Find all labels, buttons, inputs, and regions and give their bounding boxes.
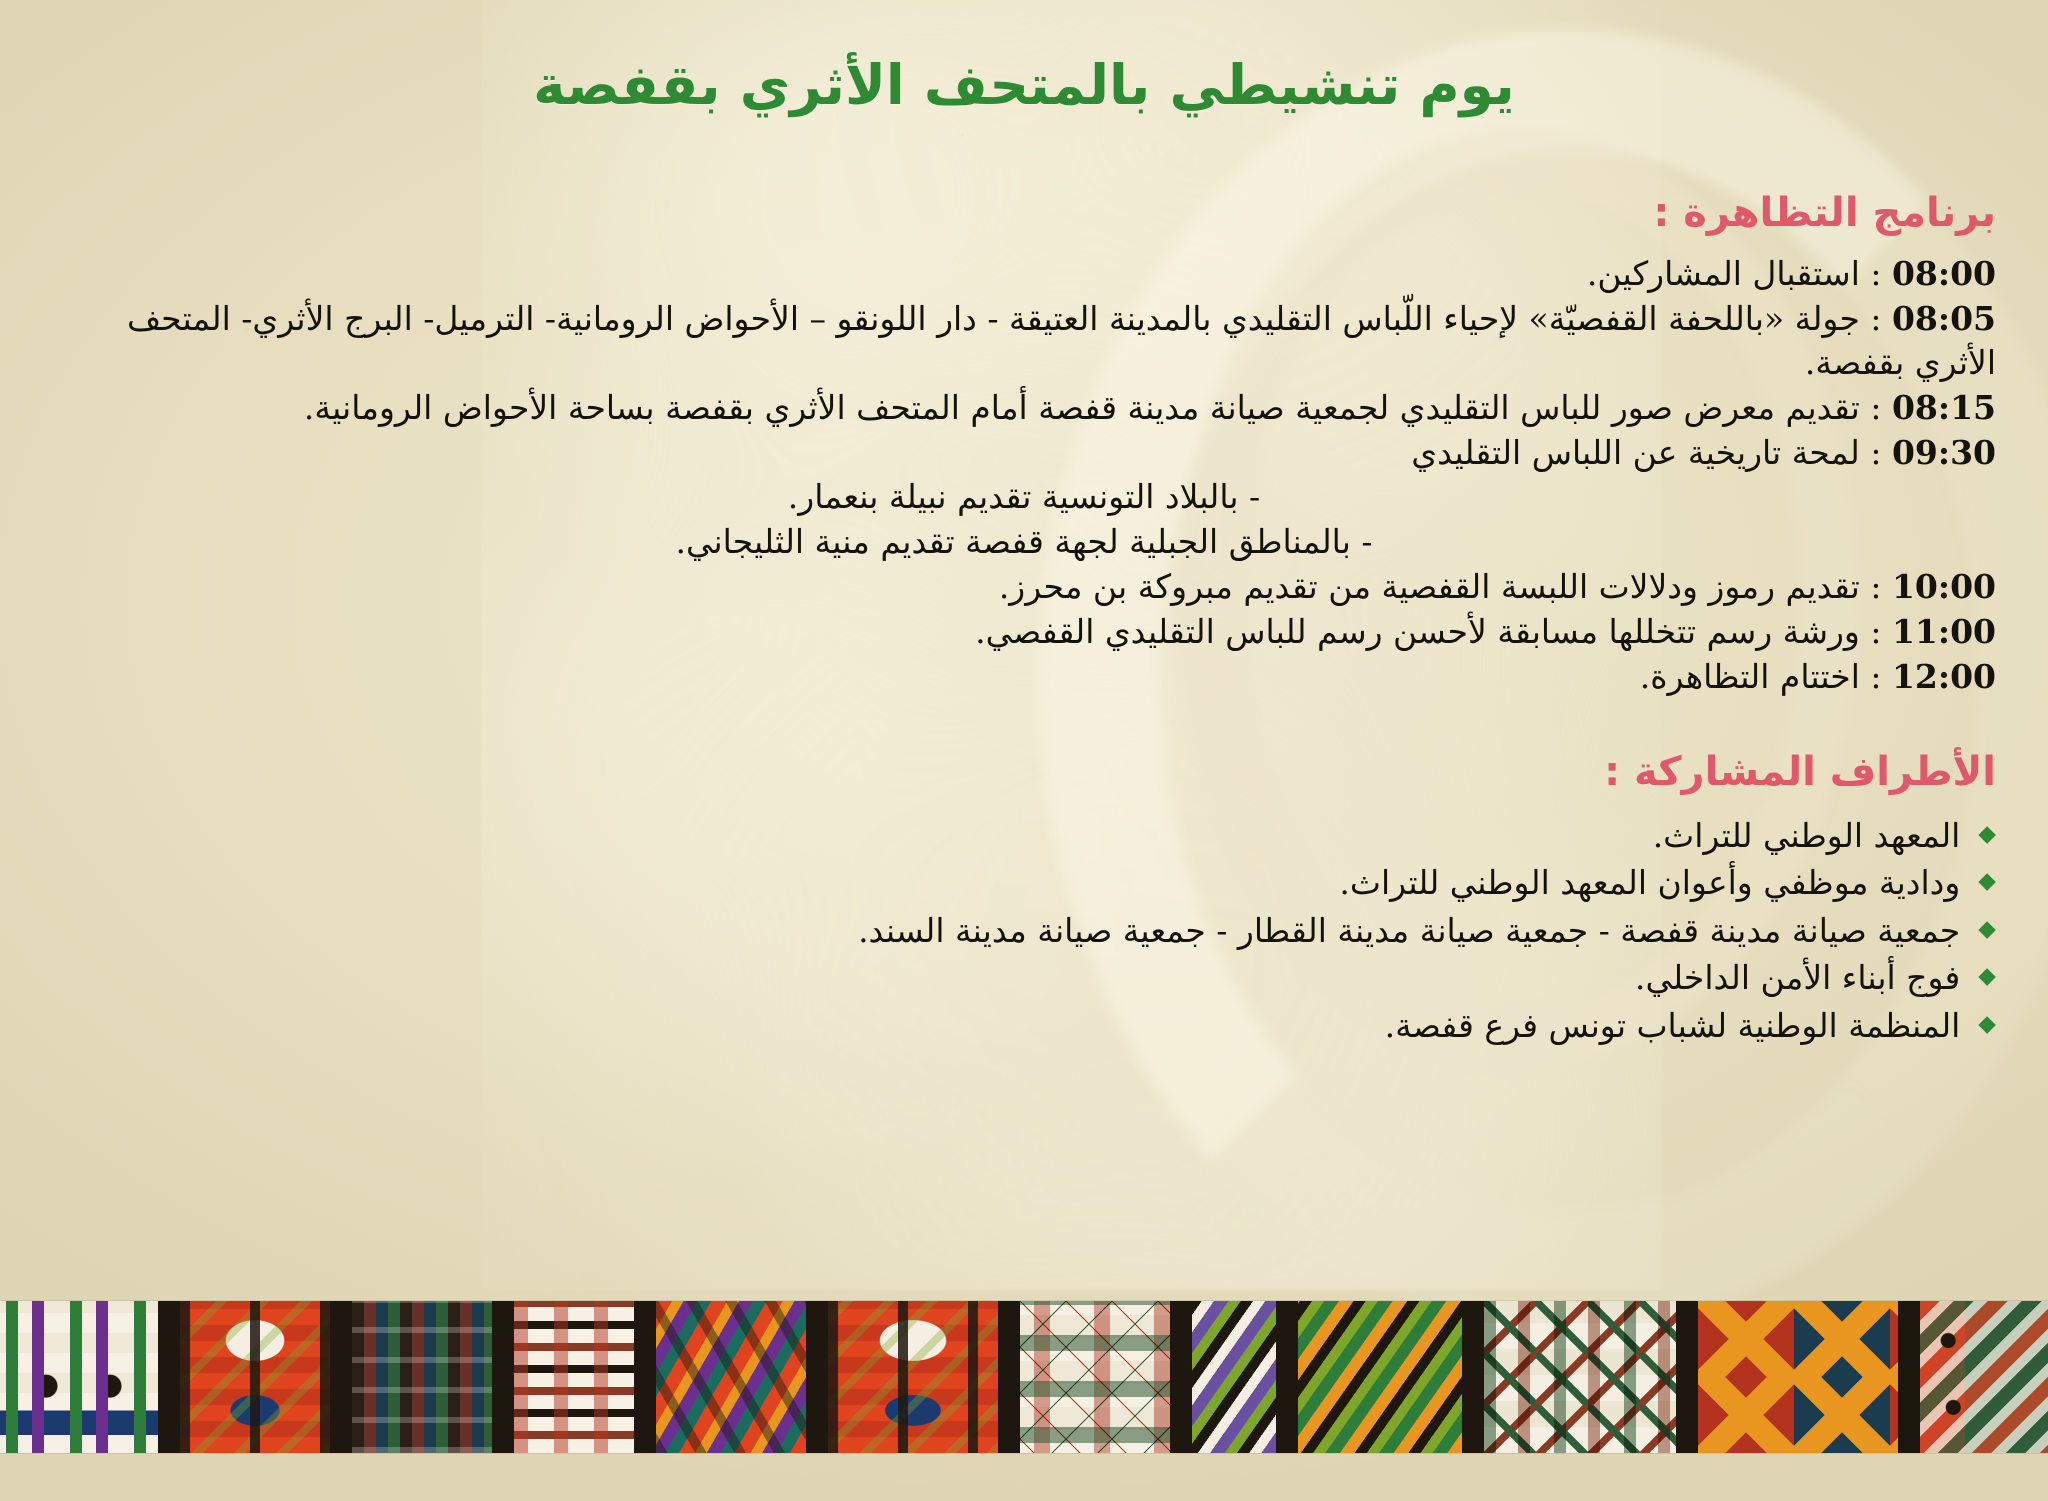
program-item-time: 08:00 (1892, 254, 1996, 293)
program-item: 08:15 : تقديم معرض صور للباس التقليدي لج… (40, 386, 2008, 430)
kilim-panel-chevron (1298, 1301, 1462, 1453)
program-item-time: 09:30 (1892, 433, 1996, 472)
diamond-bullet-icon: ◆ (1978, 955, 1996, 999)
kilim-panel-divider (806, 1301, 828, 1453)
kilim-panel-chevron-dark (1192, 1301, 1276, 1453)
traditional-kilim-textile-strip (0, 1301, 2048, 1453)
program-item: - بالبلاد التونسية تقديم نبيلة بنعمار. (40, 475, 2008, 519)
diamond-bullet-icon: ◆ (1978, 813, 1996, 857)
program-item-time: 12:00 (1892, 657, 1996, 696)
program-item-text: : تقديم معرض صور للباس التقليدي لجمعية ص… (304, 388, 1892, 427)
program-item-text: : تقديم رموز ودلالات اللبسة القفصية من ت… (999, 567, 1892, 606)
program-item-text: : جولة «باللحفة القفصيّة» لإحياء اللّباس… (127, 299, 1996, 382)
kilim-panel-divider (634, 1301, 656, 1453)
kilim-panel-divider (1898, 1301, 1920, 1453)
kilim-panel-divider (1170, 1301, 1192, 1453)
partner-name: فوج أبناء الأمن الداخلي. (1635, 955, 1960, 1001)
list-item: ◆جمعية صيانة مدينة قفصة - جمعية صيانة مد… (40, 908, 2008, 954)
program-section-heading: برنامج التظاهرة : (40, 188, 2008, 238)
diamond-bullet-icon: ◆ (1978, 860, 1996, 904)
program-schedule-list: 08:00 : استقبال المشاركين.08:05 : جولة «… (40, 252, 2008, 699)
kilim-panel-triangles (1484, 1301, 1676, 1453)
kilim-panel-divider (492, 1301, 514, 1453)
kilim-panel-human-figure-red (828, 1301, 998, 1453)
diamond-bullet-icon: ◆ (1978, 1003, 1996, 1047)
page-title: يوم تنشيطي بالمتحف الأثري بقفصة (40, 0, 2008, 118)
program-item-time: 10:00 (1892, 567, 1996, 606)
kilim-panel-maze (514, 1301, 634, 1453)
program-item-text: : استقبال المشاركين. (1587, 254, 1892, 293)
program-item-text: : ورشة رسم تتخللها مسابقة لأحسن رسم للبا… (975, 612, 1892, 651)
partner-name: المنظمة الوطنية لشباب تونس فرع قفصة. (1385, 1003, 1961, 1049)
program-item: 11:00 : ورشة رسم تتخللها مسابقة لأحسن رس… (40, 610, 2008, 654)
list-item: ◆ودادية موظفي وأعوان المعهد الوطني للترا… (40, 860, 2008, 906)
participating-partners-list: ◆المعهد الوطني للتراث.◆ودادية موظفي وأعو… (40, 813, 2008, 1049)
program-item-time: 08:15 (1892, 388, 1996, 427)
kilim-panel-diamonds (1698, 1301, 1898, 1453)
program-item-text: : لمحة تاريخية عن اللباس التقليدي (1411, 433, 1892, 472)
program-item: - بالمناطق الجبلية لجهة قفصة تقديم منية … (40, 520, 2008, 564)
partners-section-heading: الأطراف المشاركة : (40, 747, 2008, 797)
list-item: ◆المعهد الوطني للتراث. (40, 813, 2008, 859)
list-item: ◆المنظمة الوطنية لشباب تونس فرع قفصة. (40, 1003, 2008, 1049)
partner-name: جمعية صيانة مدينة قفصة - جمعية صيانة مدي… (858, 908, 1960, 954)
kilim-panel-divider (330, 1301, 352, 1453)
kilim-panel-divider (1276, 1301, 1298, 1453)
program-item-time: 08:05 (1892, 299, 1996, 338)
kilim-panel-triangle-column (1020, 1301, 1170, 1453)
partner-name: ودادية موظفي وأعوان المعهد الوطني للتراث… (1339, 860, 1960, 906)
program-item: 12:00 : اختتام التظاهرة. (40, 655, 2008, 699)
program-item: 10:00 : تقديم رموز ودلالات اللبسة القفصي… (40, 565, 2008, 609)
kilim-panel-zigzag (656, 1301, 806, 1453)
poster-content: يوم تنشيطي بالمتحف الأثري بقفصة برنامج ا… (0, 0, 2048, 1048)
diamond-bullet-icon: ◆ (1978, 908, 1996, 952)
kilim-panel-divider (998, 1301, 1020, 1453)
program-item-time: 11:00 (1892, 612, 1996, 651)
poster-root: يوم تنشيطي بالمتحف الأثري بقفصة برنامج ا… (0, 0, 2048, 1501)
program-item: 08:00 : استقبال المشاركين. (40, 252, 2008, 296)
program-item-text: - بالمناطق الجبلية لجهة قفصة تقديم منية … (675, 522, 1372, 561)
kilim-panel-divider (1676, 1301, 1698, 1453)
list-item: ◆فوج أبناء الأمن الداخلي. (40, 955, 2008, 1001)
kilim-panel-grid-dark (352, 1301, 492, 1453)
program-item-text: : اختتام التظاهرة. (1640, 657, 1892, 696)
kilim-panel-divider (1462, 1301, 1484, 1453)
program-item-text: - بالبلاد التونسية تقديم نبيلة بنعمار. (788, 477, 1260, 516)
kilim-panel-animals (1920, 1301, 2048, 1453)
program-item: 08:05 : جولة «باللحفة القفصيّة» لإحياء ا… (40, 297, 2008, 385)
kilim-panel-divider (158, 1301, 180, 1453)
program-item: 09:30 : لمحة تاريخية عن اللباس التقليدي (40, 431, 2008, 475)
kilim-panel-figure-standing (180, 1301, 330, 1453)
partner-name: المعهد الوطني للتراث. (1653, 813, 1961, 859)
kilim-panel-totem (0, 1301, 158, 1453)
